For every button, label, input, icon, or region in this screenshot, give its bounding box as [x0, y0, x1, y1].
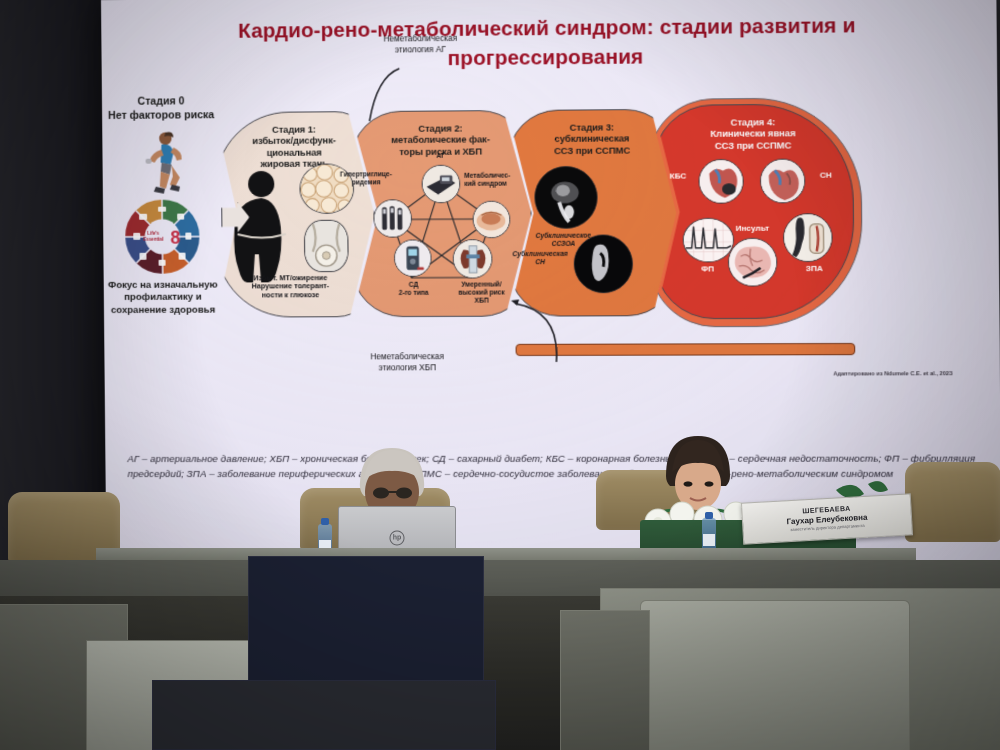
stage-0-heading: Стадия 0: [102, 94, 220, 109]
stage-4-label-af: ФП: [685, 264, 730, 274]
test-tubes-icon: [373, 199, 412, 237]
heart-failure-icon: [760, 159, 806, 204]
slide-credit: Адаптировано из Ndumele C.E. et al., 202…: [695, 371, 952, 378]
crm-syndrome-diagram: Стадия 0 Нет факторов риска: [102, 88, 1000, 445]
callout-top-label: Неметаболическая этиология АГ: [355, 34, 487, 56]
stage-1-caption: Избыт. МТ/ожирение Нарушение толерант- н…: [218, 274, 363, 300]
callout-bottom-label: Неметаболическая этиология ХБП: [341, 352, 473, 373]
presentation-slide: Кардио-рено-метаболический синдром: стад…: [101, 0, 1000, 561]
lifes-essential-8-wheel: Life's Essential 8: [123, 197, 202, 275]
fat-cell-icon: [304, 220, 349, 272]
glucometer-icon: [394, 239, 432, 276]
stage-4-label-cad: КБС: [660, 171, 697, 181]
svg-text:Life's: Life's: [147, 230, 159, 235]
blood-pressure-monitor-icon: [422, 165, 461, 203]
stage-4-content: КБС СН: [653, 103, 855, 319]
wall-left-panel: [0, 0, 104, 560]
peripheral-artery-icon: [783, 213, 833, 262]
ct-scan-icon: [534, 166, 598, 229]
abdominal-fat-icon: [473, 201, 511, 238]
callout-top-leader-line: [339, 66, 420, 127]
brain-icon: [728, 238, 778, 287]
stage-2-node-label-ag: АГ: [425, 153, 455, 161]
stage-4-label-pad: ЗПА: [794, 264, 835, 274]
stage-2-node-label-dm: СД 2-го типа: [390, 282, 437, 298]
stage-0-subheading: Нет факторов риска: [102, 108, 220, 123]
callout-bottom-leader-line: [466, 243, 569, 364]
slide-title: Кардио-рено-метаболический синдром: стад…: [141, 10, 956, 76]
running-person-icon: [131, 129, 192, 195]
svg-text:8: 8: [170, 227, 180, 247]
stage-4-label-stroke: Инсульт: [719, 224, 785, 234]
stage-4-label-hf: СН: [807, 170, 844, 180]
stage-2-node-label-tg: Гипертриглице- ридемия: [335, 171, 398, 187]
heart-coronary-icon: [698, 159, 744, 204]
stage-0-caption: Фокус на изначальную профилактику и сохр…: [104, 279, 223, 317]
svg-text:Essential: Essential: [143, 236, 163, 241]
slide-footnote: АГ – артериальное давление; ХБП – хронич…: [127, 452, 982, 483]
projection-screen: Кардио-рено-метаболический синдром: стад…: [101, 0, 1000, 561]
stage-0-block: Стадия 0 Нет факторов риска: [102, 94, 222, 317]
